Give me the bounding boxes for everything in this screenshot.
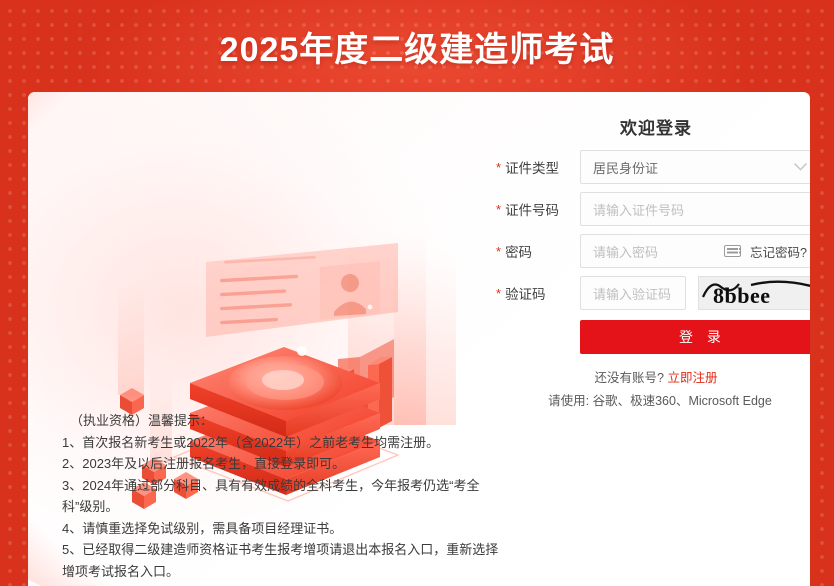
id-number-field[interactable]: 请输入证件号码 — [580, 192, 810, 226]
login-button[interactable]: 登 录 — [580, 320, 810, 354]
forgot-password-link[interactable]: 忘记密码? — [750, 242, 810, 261]
notice-item: 3、2024年通过部分科目、具有有效成绩的全科考生，今年报考仍选“考全 科”级别… — [62, 475, 532, 518]
field-row-id-type: * 证件类型 居民身份证 — [490, 150, 810, 184]
notice-item: 1、首次报名新考生或2022年（含2022年）之前老考生均需注册。 — [62, 432, 532, 454]
notice-item: （执业资格）温馨提示： — [62, 410, 532, 432]
password-field[interactable]: 请输入密码 忘记密码? — [580, 234, 810, 268]
page-title: 2025年度二级建造师考试 — [220, 22, 615, 71]
required-asterisk: * — [496, 203, 501, 216]
login-card: 欢迎登录 * 证件类型 居民身份证 * 证件号码 — [28, 92, 810, 586]
required-asterisk: * — [496, 161, 501, 174]
chevron-down-icon — [789, 163, 810, 171]
page-header: 2025年度二级建造师考试 — [0, 0, 834, 92]
captcha-text: 8bbee — [713, 283, 771, 308]
login-form: 欢迎登录 * 证件类型 居民身份证 * 证件号码 — [490, 92, 810, 586]
notice-item: 2、2023年及以后注册报名考生，直接登录即可。 — [62, 453, 532, 475]
register-link[interactable]: 立即注册 — [667, 371, 717, 385]
login-heading: 欢迎登录 — [490, 114, 810, 139]
label-text: 证件号码 — [505, 199, 559, 219]
id-type-value: 居民身份证 — [581, 158, 789, 177]
captcha-image[interactable]: 8bbee — [698, 276, 810, 310]
password-input[interactable]: 请输入密码 — [581, 242, 724, 261]
notice-item: 5、已经取得二级建造师资格证书考生报考增项请退出本报名入口，重新选择 增项考试报… — [62, 539, 532, 582]
required-asterisk: * — [496, 287, 501, 300]
notice-list: （执业资格）温馨提示： 1、首次报名新考生或2022年（含2022年）之前老考生… — [62, 410, 532, 582]
required-asterisk: * — [496, 245, 501, 258]
keyboard-icon[interactable] — [724, 245, 741, 257]
label-id-type: * 证件类型 — [496, 150, 559, 184]
label-text: 证件类型 — [505, 157, 559, 177]
captcha-svg: 8bbee — [699, 277, 810, 310]
browser-hint: 请使用: 谷歌、极速360、Microsoft Edge — [490, 390, 810, 409]
register-prompt-text: 还没有账号? — [595, 371, 664, 385]
label-text: 密码 — [505, 241, 532, 261]
label-id-number: * 证件号码 — [496, 192, 559, 226]
id-number-input[interactable]: 请输入证件号码 — [581, 200, 810, 219]
label-password: * 密码 — [496, 234, 532, 268]
id-type-select[interactable]: 居民身份证 — [580, 150, 810, 184]
notice-item: 4、请慎重选择免试级别，需具备项目经理证书。 — [62, 518, 532, 540]
field-row-captcha: * 验证码 请输入验证码 8bbee — [490, 276, 810, 310]
field-row-password: * 密码 请输入密码 忘记密码? — [490, 234, 810, 268]
label-text: 验证码 — [505, 283, 546, 303]
captcha-field[interactable]: 请输入验证码 — [580, 276, 686, 310]
field-row-id-number: * 证件号码 请输入证件号码 — [490, 192, 810, 226]
captcha-input[interactable]: 请输入验证码 — [581, 284, 685, 303]
label-captcha: * 验证码 — [496, 276, 546, 310]
register-prompt-row: 还没有账号? 立即注册 — [490, 367, 810, 386]
login-page: 2025年度二级建造师考试 — [0, 0, 834, 586]
